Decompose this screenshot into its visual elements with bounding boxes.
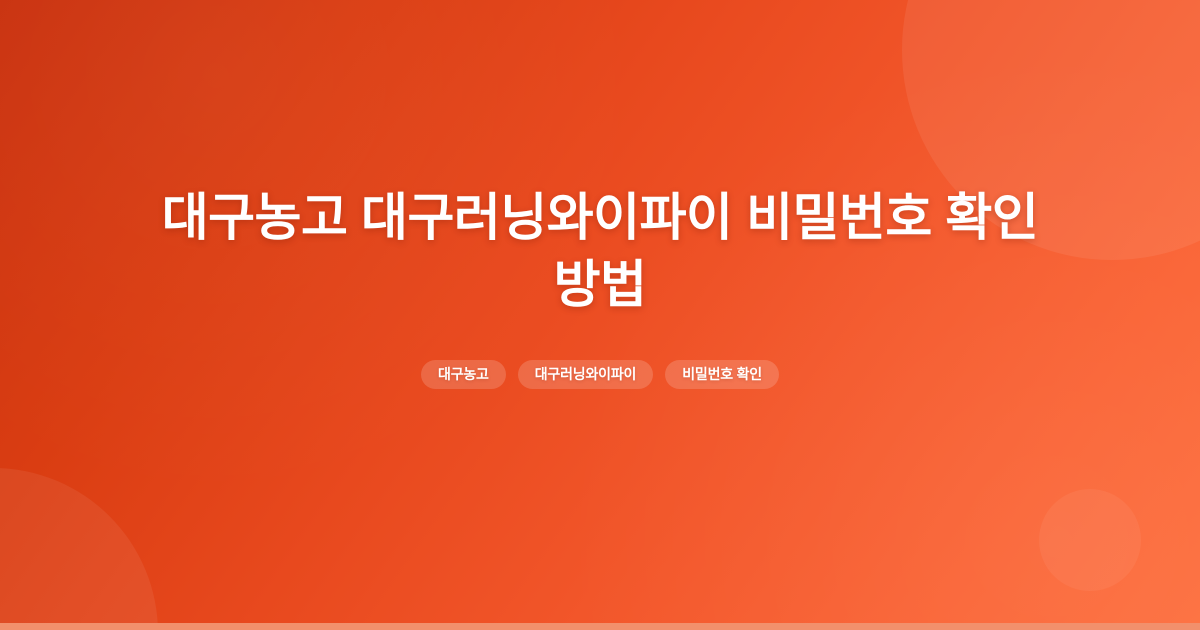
page-title-line-2: 방법 [554, 256, 647, 313]
tag-list: 대구농고 대구러닝와이파이 비밀번호 확인 [120, 360, 1080, 389]
page-title: 대구농고 대구러닝와이파이 비밀번호 확인 방법 [120, 185, 1080, 318]
page-title-line-1: 대구농고 대구러닝와이파이 비밀번호 확인 [162, 189, 1039, 246]
thumbnail-card: 대구농고 대구러닝와이파이 비밀번호 확인 방법 대구농고 대구러닝와이파이 비… [0, 0, 1200, 630]
bottom-accent-strip [0, 623, 1200, 630]
tag-item-3[interactable]: 비밀번호 확인 [665, 360, 779, 389]
tag-item-2[interactable]: 대구러닝와이파이 [518, 360, 653, 389]
card-content: 대구농고 대구러닝와이파이 비밀번호 확인 방법 대구농고 대구러닝와이파이 비… [120, 185, 1080, 389]
decorative-circle-bottom-left [0, 468, 158, 630]
decorative-circle-bottom-right [1039, 489, 1141, 591]
tag-item-1[interactable]: 대구농고 [421, 360, 506, 389]
